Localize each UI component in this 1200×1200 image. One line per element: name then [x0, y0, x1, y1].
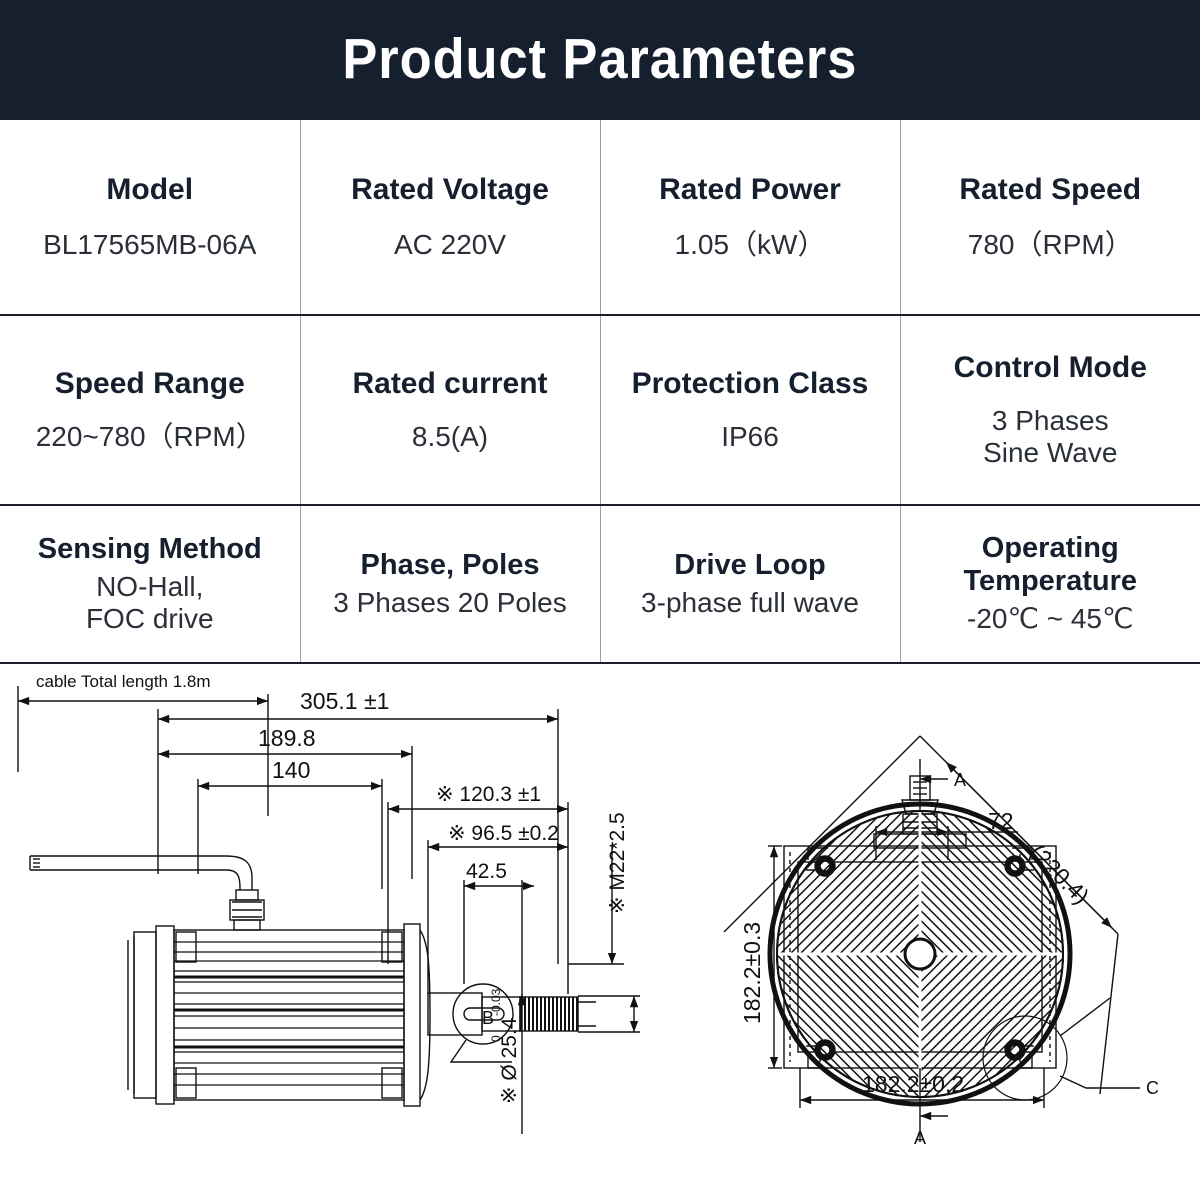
- spec-label: Drive Loop: [674, 549, 825, 581]
- spec-label: Sensing Method: [38, 533, 262, 565]
- spec-cell-rated-power: Rated Power 1.05（kW）: [600, 119, 900, 315]
- spec-cell-rated-current: Rated current 8.5(A): [300, 315, 600, 505]
- spec-cell-operating-temperature: Operating Temperature -20℃ ~ 45℃: [900, 505, 1200, 663]
- spec-cell-rated-speed: Rated Speed 780（RPM）: [900, 119, 1200, 315]
- spec-value: BL17565MB-06A: [43, 229, 256, 261]
- table-row: Speed Range 220~780（RPM） Rated current 8…: [0, 315, 1200, 505]
- spec-label: Protection Class: [632, 367, 869, 401]
- dim-width: 182.2±0.2: [862, 1071, 964, 1097]
- spec-cell-rated-voltage: Rated Voltage AC 220V: [300, 119, 600, 315]
- spec-label: Rated Power: [659, 173, 841, 207]
- spec-value: 1.05（kW）: [675, 229, 826, 261]
- spec-value: 3-phase full wave: [641, 587, 859, 619]
- spec-label: Phase, Poles: [361, 549, 540, 581]
- detail-c-label: C: [1146, 1078, 1159, 1098]
- technical-drawing: cable Total length 1.8m 305.1 ±1 189.8 1…: [0, 664, 1200, 1196]
- spec-label: Model: [106, 173, 193, 207]
- spec-value: IP66: [721, 421, 779, 453]
- page-title: Product Parameters: [343, 31, 858, 88]
- shaft-tolerance-upper: 0: [489, 1035, 503, 1042]
- table-row: Model BL17565MB-06A Rated Voltage AC 220…: [0, 119, 1200, 315]
- shaft-tolerance-lower: -0.03: [489, 988, 503, 1016]
- drawing-canvas: cable Total length 1.8m 305.1 ±1 189.8 1…: [0, 664, 1200, 1196]
- dim-thread-m22: ※ M22*2.5: [606, 812, 629, 914]
- spec-value: 3 Phases 20 Poles: [333, 587, 567, 619]
- spec-label: Rated current: [352, 367, 547, 401]
- spec-label: Control Mode: [954, 351, 1147, 385]
- dim-shaft-diameter: ※ Ø 25.4: [498, 1017, 521, 1104]
- spec-cell-phase-poles: Phase, Poles 3 Phases 20 Poles: [300, 505, 600, 663]
- spec-label: Speed Range: [55, 367, 245, 401]
- dim-96: ※ 96.5 ±0.2: [448, 822, 559, 845]
- spec-value: 8.5(A): [412, 421, 488, 453]
- spec-value: 780（RPM）: [968, 229, 1133, 261]
- dim-120: ※ 120.3 ±1: [436, 783, 541, 806]
- dim-140: 140: [272, 757, 310, 783]
- spec-value: 3 Phases Sine Wave: [983, 405, 1117, 469]
- page-header: Product Parameters: [0, 0, 1200, 118]
- spec-cell-model: Model BL17565MB-06A: [0, 119, 300, 315]
- specifications-table: Model BL17565MB-06A Rated Voltage AC 220…: [0, 118, 1200, 664]
- dim-height: 182.2±0.3: [739, 922, 765, 1024]
- table-row: Sensing Method NO-Hall, FOC drive Phase,…: [0, 505, 1200, 663]
- spec-value: NO-Hall, FOC drive: [86, 571, 214, 635]
- spec-value: -20℃ ~ 45℃: [967, 603, 1133, 635]
- spec-cell-drive-loop: Drive Loop 3-phase full wave: [600, 505, 900, 663]
- spec-cell-protection-class: Protection Class IP66: [600, 315, 900, 505]
- spec-label: Rated Voltage: [351, 173, 549, 207]
- spec-label: Operating Temperature: [963, 532, 1137, 597]
- spec-label: Rated Speed: [959, 173, 1141, 207]
- spec-cell-control-mode: Control Mode 3 Phases Sine Wave: [900, 315, 1200, 505]
- spec-cell-speed-range: Speed Range 220~780（RPM）: [0, 315, 300, 505]
- side-view-group: [18, 686, 640, 1134]
- dim-72: 72: [988, 808, 1014, 834]
- spec-value: AC 220V: [394, 229, 506, 261]
- dim-total-length: 305.1 ±1: [300, 688, 389, 714]
- spec-cell-sensing-method: Sensing Method NO-Hall, FOC drive: [0, 505, 300, 663]
- dim-42: 42.5: [466, 860, 507, 883]
- cable-length-note: cable Total length 1.8m: [36, 672, 211, 691]
- section-a-bottom-label: A: [914, 1128, 926, 1148]
- section-a-top-label: A: [954, 770, 966, 790]
- product-parameters-page: Product Parameters Model BL17565MB-06A R…: [0, 0, 1200, 1200]
- spec-value: 220~780（RPM）: [36, 421, 264, 453]
- dim-189: 189.8: [258, 725, 316, 751]
- end-view-group: [660, 694, 1180, 1196]
